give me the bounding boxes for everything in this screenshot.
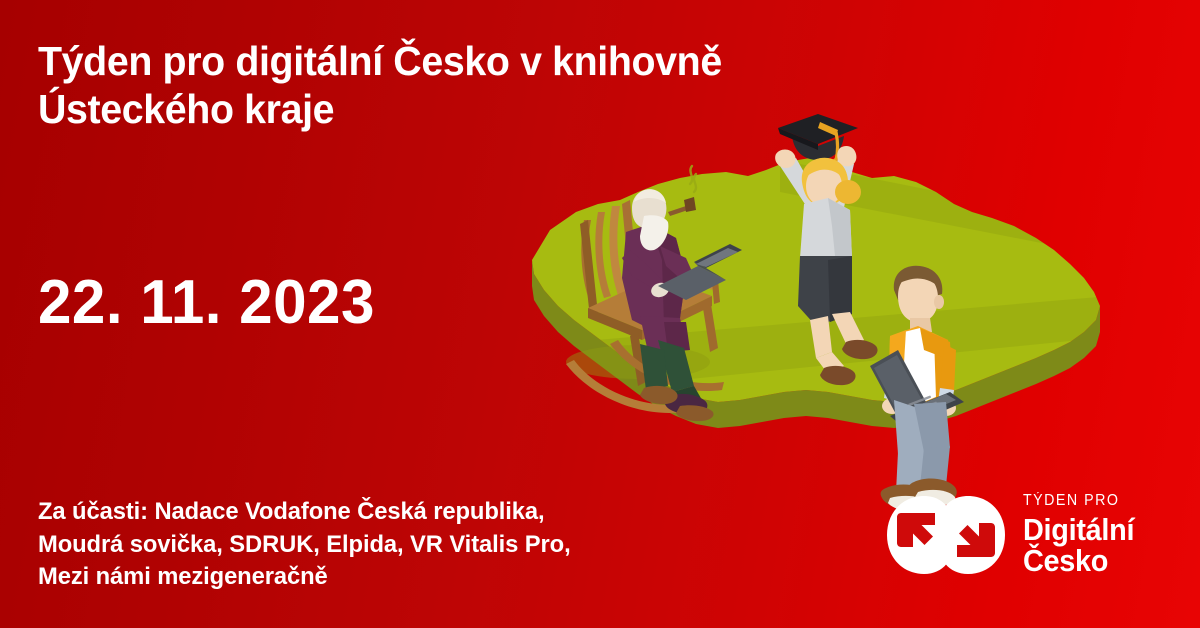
page-title: Týden pro digitální Česko v knihovně Úst… <box>38 38 883 134</box>
logo[interactable]: TÝDEN PRO Digitální Česko <box>883 492 1143 578</box>
logo-kicker: TÝDEN PRO <box>1023 493 1133 509</box>
logo-line-digitalni: Digitální <box>1023 514 1134 546</box>
event-date: 22. 11. 2023 <box>38 272 375 334</box>
logo-wordmark: TÝDEN PRO Digitální Česko <box>1023 493 1143 577</box>
isometric-map-illustration <box>480 100 1180 500</box>
promotional-banner: Týden pro digitální Česko v knihovně Úst… <box>0 0 1200 628</box>
participants-list: Za účasti: Nadace Vodafone Česká republi… <box>38 496 717 594</box>
infinity-loop-arrows-icon <box>883 492 1009 578</box>
logo-line-cesko: Česko <box>1023 545 1134 577</box>
